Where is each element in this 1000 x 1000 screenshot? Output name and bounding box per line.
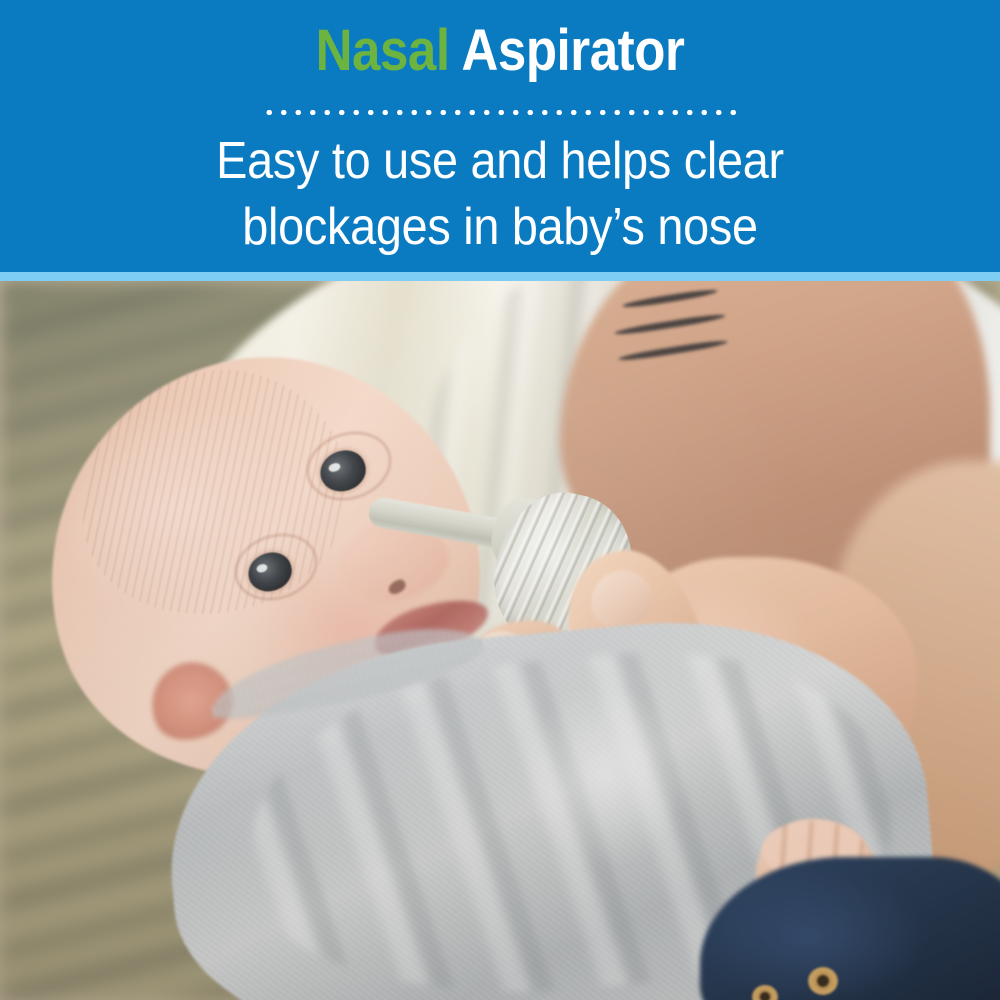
banner-underline-accent (0, 272, 1000, 281)
product-lifestyle-photo (0, 281, 1000, 1000)
subtitle-line-1: Easy to use and helps clear (50, 128, 950, 194)
dotted-divider (262, 108, 740, 117)
title-word-aspirator: Aspirator (450, 18, 685, 83)
page-title: Nasal Aspirator (60, 18, 940, 84)
page-subtitle: Easy to use and helps clear blockages in… (50, 128, 950, 260)
product-infographic: Nasal Aspirator Easy to use and helps cl… (0, 0, 1000, 1000)
script-tattoo-icon (612, 287, 762, 383)
subtitle-line-2: blockages in baby’s nose (50, 194, 950, 260)
header-banner: Nasal Aspirator Easy to use and helps cl… (0, 0, 1000, 272)
title-word-nasal: Nasal (316, 18, 450, 83)
pants-button-right (808, 967, 838, 995)
